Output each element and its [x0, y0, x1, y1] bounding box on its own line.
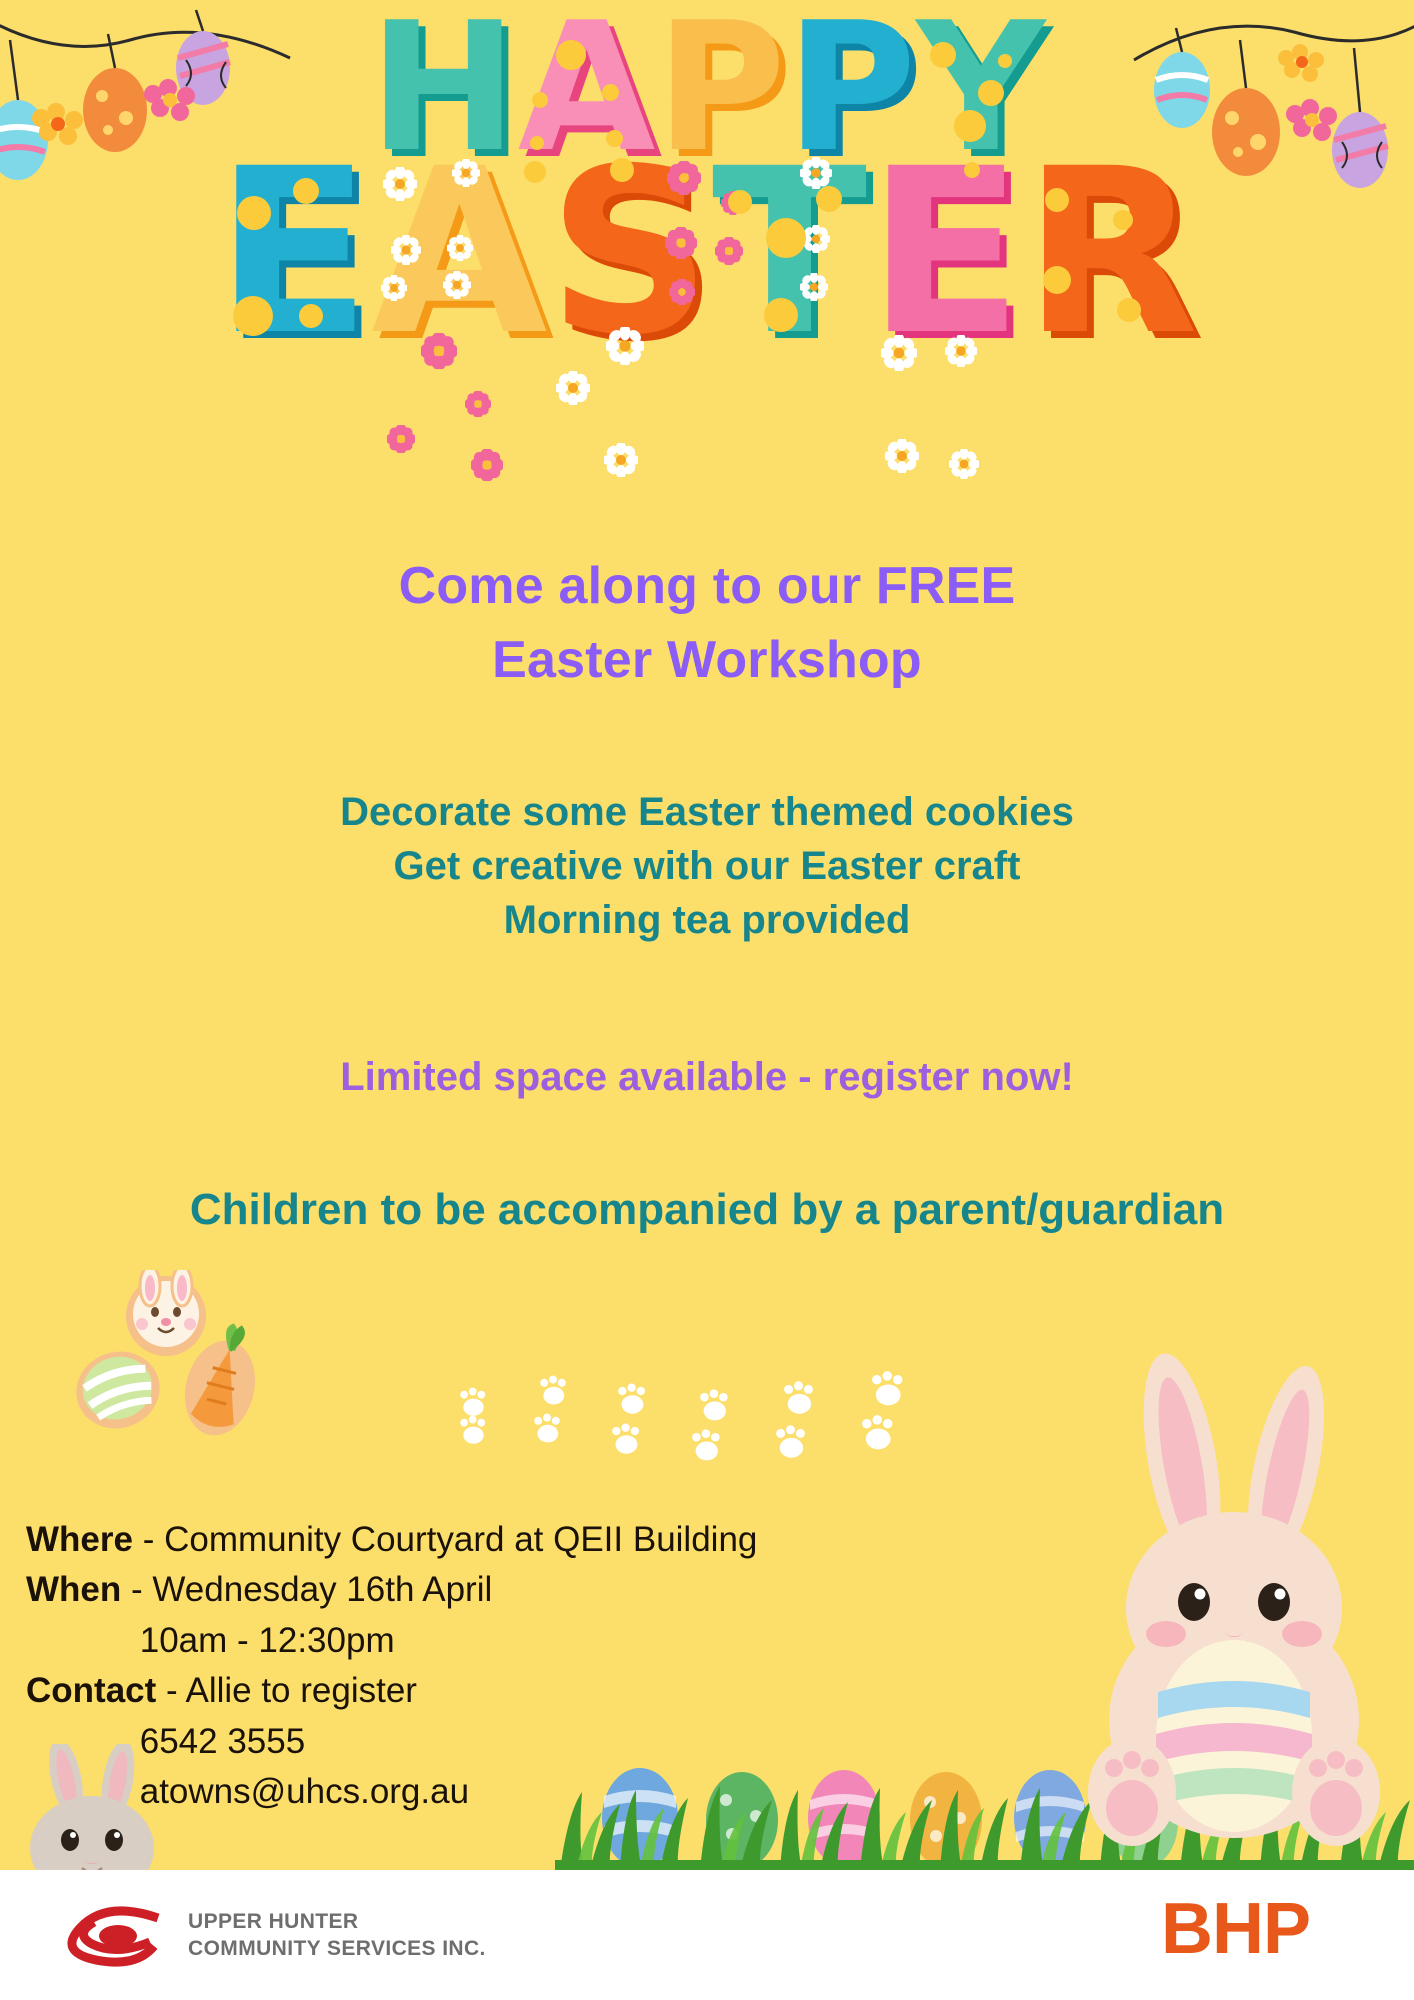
activity-line-1: Decorate some Easter themed cookies — [0, 785, 1414, 839]
easter-workshop-poster: H H — [0, 0, 1414, 2000]
pink-flower-icon — [471, 298, 503, 508]
detail-dash-where: - — [143, 1520, 155, 1559]
activities-list: Decorate some Easter themed cookies Get … — [0, 785, 1414, 947]
uhcs-logo: UPPER HUNTER COMMUNITY SERVICES INC. — [62, 1898, 486, 1974]
bunny-with-egg-illustration — [1074, 1340, 1404, 1860]
activity-line-2: Get creative with our Easter craft — [0, 839, 1414, 893]
uhcs-line1: UPPER HUNTER — [188, 1909, 486, 1936]
detail-dash-contact: - — [166, 1671, 178, 1710]
detail-value-time: 10am - 12:30pm — [140, 1621, 395, 1660]
detail-value-email[interactable]: atowns@uhcs.org.au — [140, 1772, 469, 1811]
detail-row-phone: 6542 3555 — [26, 1717, 757, 1767]
pink-flower-icon — [669, 162, 695, 326]
paw-print-trail — [455, 1370, 975, 1480]
bhp-logo: BHP — [1161, 1888, 1310, 1970]
title-line-easter: E E A A — [0, 148, 1414, 358]
daisy-icon — [604, 294, 638, 504]
lead-heading-line2: Easter Workshop — [0, 624, 1414, 698]
easter-cookies-illustration — [70, 1270, 300, 1450]
pink-flower-icon — [387, 270, 415, 480]
poster-title: H H — [0, 6, 1414, 358]
detail-value-when: Wednesday 16th April — [152, 1570, 492, 1609]
detail-row-email: atowns@uhcs.org.au — [26, 1767, 757, 1817]
activity-line-3: Morning tea provided — [0, 893, 1414, 947]
daisy-icon — [885, 290, 919, 500]
title-letter-e2: E E — [867, 148, 1023, 358]
daisy-icon — [556, 222, 590, 432]
guardian-note: Children to be accompanied by a parent/g… — [0, 1185, 1414, 1235]
uhcs-logo-text: UPPER HUNTER COMMUNITY SERVICES INC. — [188, 1909, 486, 1963]
event-details: Where - Community Courtyard at QEII Buil… — [26, 1515, 757, 1817]
detail-label-where: Where — [26, 1520, 133, 1559]
title-letter-e1: E E — [215, 148, 371, 358]
register-note: Limited space available - register now! — [0, 1055, 1414, 1100]
lead-heading-line1: Come along to our FREE — [0, 550, 1414, 624]
detail-value-where: Community Courtyard at QEII Building — [164, 1520, 757, 1559]
detail-row-where: Where - Community Courtyard at QEII Buil… — [26, 1515, 757, 1565]
detail-dash-when: - — [131, 1570, 143, 1609]
poster-footer: UPPER HUNTER COMMUNITY SERVICES INC. BHP — [0, 1870, 1414, 2000]
title-letter-r-glyph: R — [1023, 148, 1199, 358]
title-letter-r: R R — [1023, 148, 1199, 358]
lead-heading: Come along to our FREE Easter Workshop — [0, 550, 1414, 698]
detail-label-when: When — [26, 1570, 121, 1609]
detail-value-contact: Allie to register — [185, 1671, 416, 1710]
uhcs-line2: COMMUNITY SERVICES INC. — [188, 1936, 486, 1963]
detail-row-contact: Contact - Allie to register — [26, 1666, 757, 1716]
detail-row-time: 10am - 12:30pm — [26, 1616, 757, 1666]
detail-value-phone[interactable]: 6542 3555 — [140, 1722, 305, 1761]
detail-label-contact: Contact — [26, 1671, 156, 1710]
uhcs-swirl-icon — [62, 1898, 172, 1974]
detail-row-when: When - Wednesday 16th April — [26, 1565, 757, 1615]
pink-flower-icon — [421, 186, 457, 396]
daisy-icon — [949, 296, 979, 506]
